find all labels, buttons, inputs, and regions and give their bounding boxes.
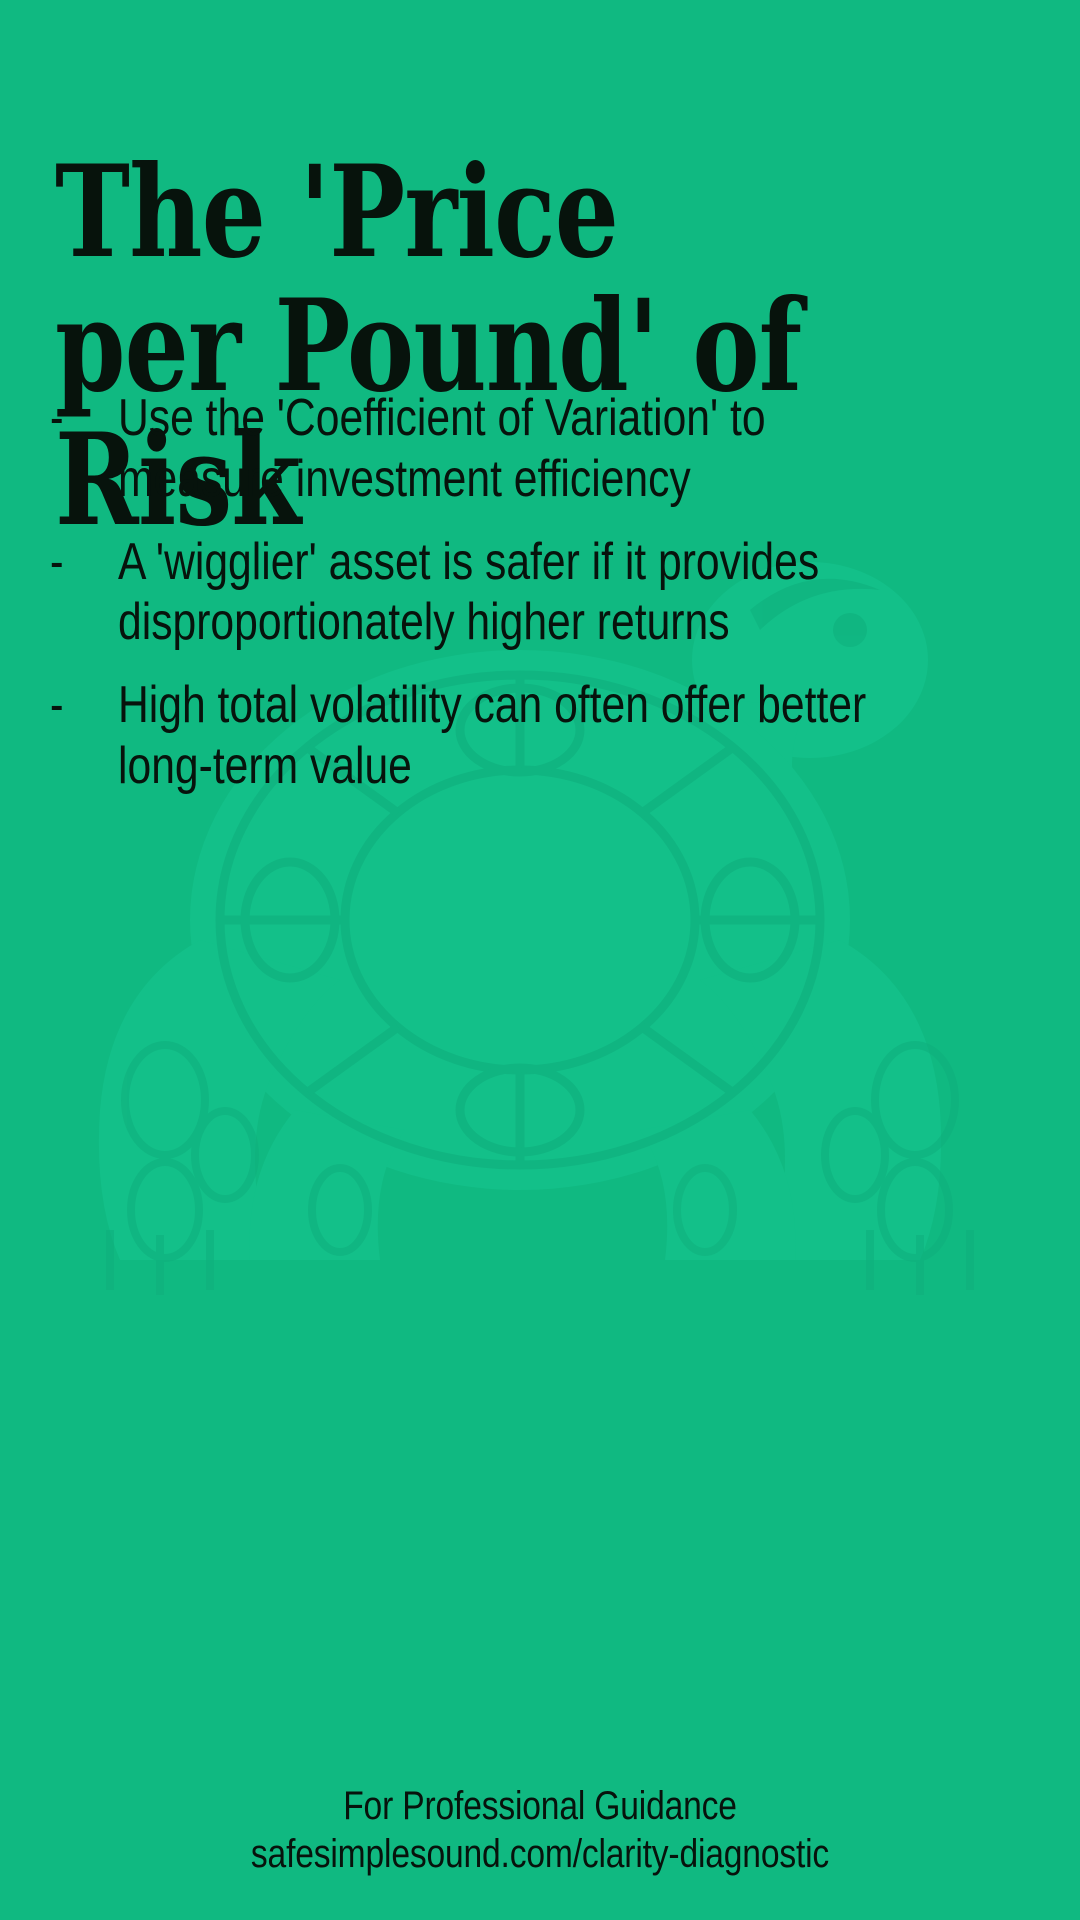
footer: For Professional Guidance safesimplesoun… xyxy=(0,1782,1080,1878)
bullet-text: A 'wigglier' asset is safer if it provid… xyxy=(118,532,874,654)
list-item: - A 'wigglier' asset is safer if it prov… xyxy=(0,532,1080,654)
bullet-marker: - xyxy=(50,532,103,593)
bullet-text: Use the 'Coefficient of Variation' to me… xyxy=(118,388,874,510)
footer-guidance-text: For Professional Guidance xyxy=(86,1782,993,1830)
list-item: - High total volatility can often offer … xyxy=(0,675,1080,797)
list-item: - Use the 'Coefficient of Variation' to … xyxy=(0,388,1080,510)
bullet-list: - Use the 'Coefficient of Variation' to … xyxy=(0,388,1080,819)
footer-website-url[interactable]: safesimplesound.com/clarity-diagnostic xyxy=(86,1830,993,1878)
bullet-marker: - xyxy=(50,388,103,449)
bullet-marker: - xyxy=(50,675,103,736)
bullet-text: High total volatility can often offer be… xyxy=(118,675,874,797)
poster-canvas: The 'Price per Pound' of Risk - Use the … xyxy=(0,0,1080,1920)
